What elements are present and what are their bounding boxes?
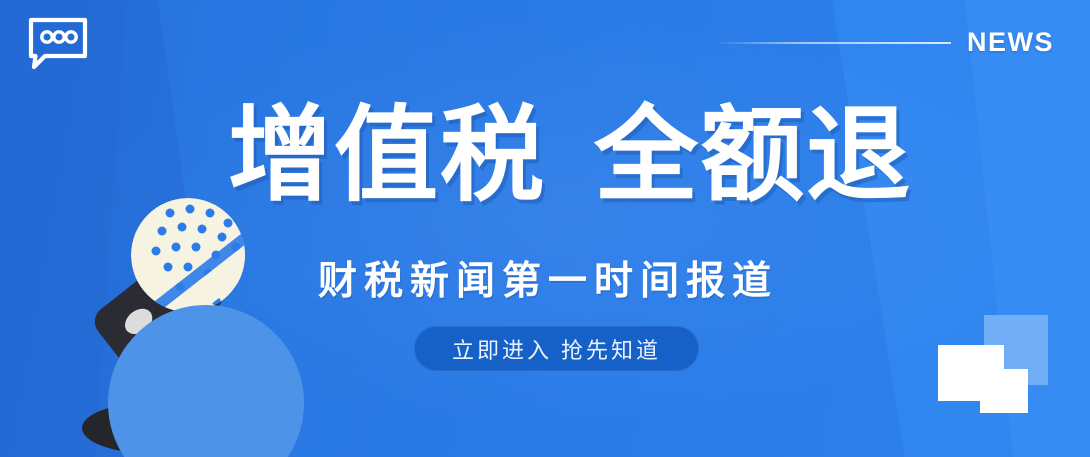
enter-now-button[interactable]: 立即进入 抢先知道	[414, 326, 699, 371]
news-banner: NEWS 增值税 全额退 财税新闻第一时间报道 立即进入 抢先知道	[0, 0, 1090, 457]
page-subtitle: 财税新闻第一时间报道	[318, 250, 778, 306]
decorative-squares	[932, 313, 1062, 435]
page-title: 增值税 全额退	[228, 104, 912, 208]
news-label: NEWS	[967, 27, 1054, 58]
news-header: NEWS	[714, 27, 1054, 58]
decorative-square-white-small	[980, 369, 1028, 413]
headline-part-2: 全额退	[594, 104, 912, 208]
microphone-illustration	[30, 175, 290, 457]
chat-bubble-dots-icon	[27, 16, 89, 70]
header-divider	[714, 42, 951, 44]
